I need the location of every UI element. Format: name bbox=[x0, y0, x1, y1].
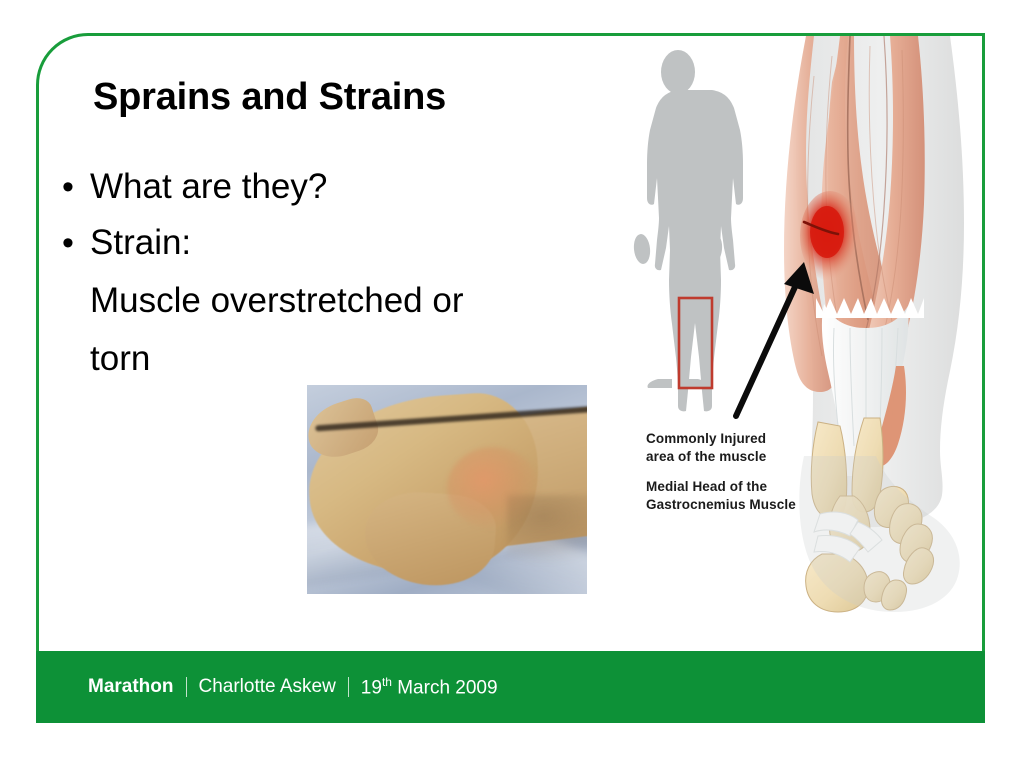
anatomy-illustration: Commonly Injured area of the muscle Medi… bbox=[618, 36, 984, 646]
anatomy-svg bbox=[618, 36, 984, 646]
footer-content: Marathon Charlotte Askew 19th March 2009 bbox=[88, 651, 498, 723]
anatomy-labels: Commonly Injured area of the muscle Medi… bbox=[646, 430, 836, 514]
footer-date-suffix: th bbox=[382, 675, 392, 689]
anatomy-label-line: Commonly Injured bbox=[646, 430, 836, 448]
continuation-line: torn bbox=[58, 330, 618, 388]
bullet-text: What are they? bbox=[90, 160, 327, 214]
footer-bar: Marathon Charlotte Askew 19th March 2009 bbox=[36, 651, 985, 723]
footer-brand: Marathon bbox=[88, 676, 174, 698]
bullet-marker-icon: • bbox=[58, 160, 90, 214]
bullet-marker-icon: • bbox=[58, 216, 90, 270]
footer-separator bbox=[186, 677, 187, 697]
indent-spacer bbox=[58, 330, 90, 388]
ankle-injury-photo bbox=[307, 385, 587, 594]
footer-separator bbox=[348, 677, 349, 697]
footer-date-rest: March 2009 bbox=[392, 677, 498, 698]
anatomy-label-line: area of the muscle bbox=[646, 448, 836, 466]
continuation-text: Muscle overstretched or bbox=[90, 272, 463, 330]
continuation-text: torn bbox=[90, 330, 150, 388]
footer-date: 19th March 2009 bbox=[361, 675, 498, 699]
body-silhouette-icon bbox=[647, 50, 743, 411]
slide-canvas: Sprains and Strains • What are they? • S… bbox=[0, 0, 1024, 768]
page-title: Sprains and Strains bbox=[93, 76, 446, 119]
label-gap bbox=[646, 466, 836, 478]
calf-anatomy-group bbox=[784, 36, 964, 612]
list-item: • Strain: bbox=[58, 216, 618, 270]
bullet-list: • What are they? • Strain: Muscle overst… bbox=[58, 160, 618, 388]
anatomy-label-line: Gastrocnemius Muscle bbox=[646, 496, 836, 514]
photo-shadow bbox=[507, 495, 587, 565]
continuation-line: Muscle overstretched or bbox=[58, 272, 618, 330]
bullet-text: Strain: bbox=[90, 216, 191, 270]
footer-author: Charlotte Askew bbox=[199, 676, 336, 698]
footer-date-number: 19 bbox=[361, 677, 382, 698]
anatomy-label-line: Medial Head of the bbox=[646, 478, 836, 496]
indent-spacer bbox=[58, 272, 90, 330]
list-item: • What are they? bbox=[58, 160, 618, 214]
